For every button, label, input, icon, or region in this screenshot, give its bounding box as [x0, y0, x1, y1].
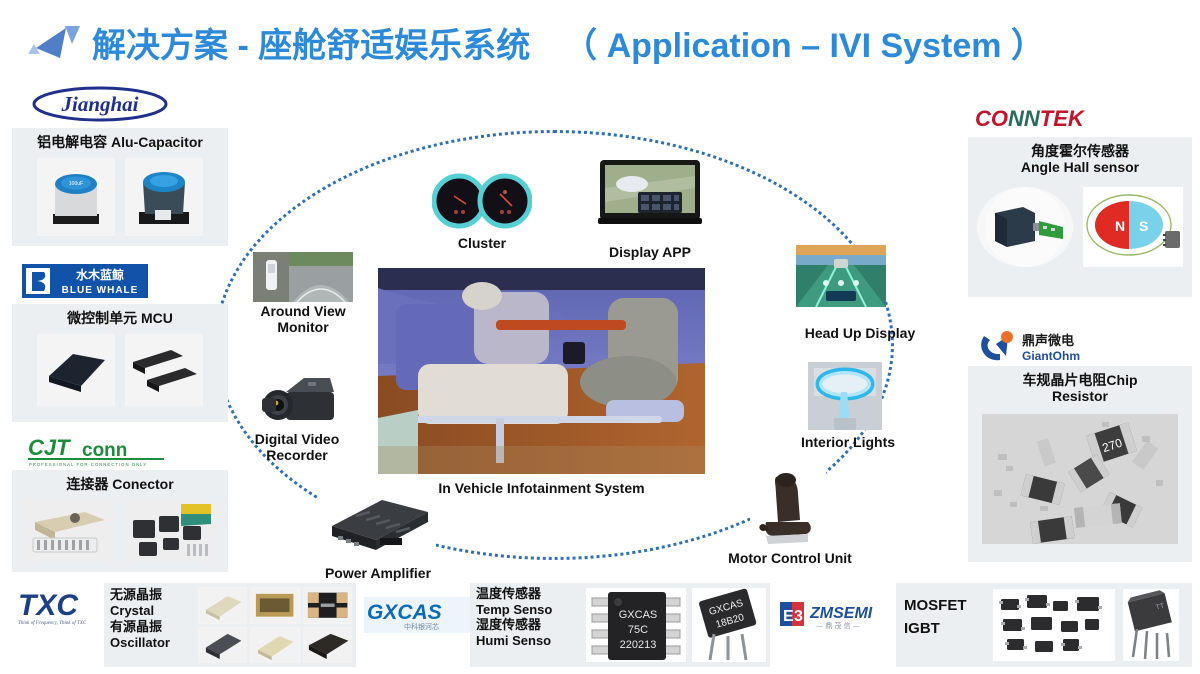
panel-connector: 连接器 Conector [12, 470, 228, 572]
head-up-display-label: Head Up Display [780, 325, 940, 341]
panel-chip-resistor-title: 车规晶片电阻Chip Resistor [968, 366, 1192, 406]
alu-capacitor-photo-1: 100uF [37, 158, 115, 236]
power-amplifier-photo [318, 490, 436, 552]
hall-motor-photo [977, 187, 1073, 267]
page-title: 解决方案 - 座舱舒适娱乐系统 （ Application – IVI Syst… [92, 18, 1045, 67]
panel-chip-resistor: 车规晶片电阻Chip Resistor 270 [968, 366, 1192, 562]
crystal-1 [198, 587, 247, 624]
interior-lights-photo [808, 362, 882, 430]
head-up-display-photo [796, 245, 886, 307]
panel-angle-hall-sensor: 角度霍尔传感器 Angle Hall sensor N [968, 137, 1192, 297]
crystal-2 [250, 587, 299, 624]
around-view-monitor-label: Around View Monitor [238, 303, 368, 335]
svg-text:E: E [783, 608, 794, 625]
svg-text:鼎声微电: 鼎声微电 [1022, 333, 1074, 349]
display-app-label: Display APP [580, 244, 720, 260]
panel-alu-capacitor-title: 铝电解电容 Alu-Capacitor [12, 128, 228, 152]
svg-text:N: N [1115, 218, 1125, 234]
cluster-label: Cluster [422, 235, 542, 251]
gxcas-to92-chip: GXCAS 18B20 [692, 588, 766, 662]
gxcas-logo-icon: GXCAS 中科银河芯 [364, 597, 482, 633]
around-view-monitor-photo [253, 252, 353, 302]
power-amplifier-label: Power Amplifier [298, 565, 458, 581]
page-title-en: （ Application – IVI System ） [563, 27, 1045, 65]
chip-resistor-photo: 270 [982, 414, 1178, 544]
slide-root: 解决方案 - 座舱舒适娱乐系统 （ Application – IVI Syst… [0, 0, 1200, 674]
svg-text:ZMSEMI: ZMSEMI [809, 605, 873, 622]
svg-text:75C: 75C [628, 624, 648, 636]
hall-magnet-photo: N S [1083, 187, 1183, 267]
svg-text:PROFESSIONAL FOR CONNECTION ON: PROFESSIONAL FOR CONNECTION ONLY [29, 462, 147, 467]
svg-text:Think of Frequency, Think of T: Think of Frequency, Think of TXC [18, 621, 87, 626]
gxcas-soic-chip: GXCAS 75C 220213 [586, 588, 686, 662]
triangles-logo-icon [26, 18, 88, 64]
panel-mosfet-igbt-lines: MOSFET IGBT [896, 583, 988, 667]
page-title-cn: 解决方案 - 座舱舒适娱乐系统 [92, 27, 530, 65]
panel-angle-hall-sensor-title: 角度霍尔传感器 Angle Hall sensor [968, 137, 1192, 177]
panel-mcu: 微控制单元 MCU [12, 304, 228, 422]
panel-crystal-oscillator-lines: 无源晶振 Crystal 有源晶振 Oscillator [104, 583, 194, 667]
svg-text:BLUE WHALE: BLUE WHALE [62, 285, 139, 296]
svg-text:水木蓝鲸: 水木蓝鲸 [76, 267, 124, 282]
svg-text:S: S [1139, 218, 1148, 234]
svg-text:— 鼎 茂 信 —: — 鼎 茂 信 — [816, 621, 860, 630]
alu-capacitor-photo-2 [125, 158, 203, 236]
panel-temp-humi-sensor-lines: 温度传感器 Temp Senso 湿度传感器 Humi Senso [470, 583, 582, 667]
panel-alu-capacitor: 铝电解电容 Alu-Capacitor 100uF [12, 128, 228, 246]
svg-text:CJT: CJT [28, 435, 71, 460]
svg-text:3: 3 [794, 608, 803, 625]
svg-text:GiantOhm: GiantOhm [1022, 349, 1080, 363]
panel-crystal-oscillator: 无源晶振 Crystal 有源晶振 Oscillator [104, 583, 356, 667]
panel-temp-humi-sensor: 温度传感器 Temp Senso 湿度传感器 Humi Senso [470, 583, 770, 667]
motor-control-unit-label: Motor Control Unit [700, 550, 880, 566]
car-seat-photo [750, 470, 826, 548]
dash-camera-photo [252, 372, 342, 430]
connector-photo-1 [23, 500, 115, 562]
conntek-logo-icon: CONNTEK [975, 104, 1105, 134]
zmsemi-logo-icon: E 3 ZMSEMI — 鼎 茂 信 — [780, 598, 898, 632]
oscillator-2 [250, 627, 299, 664]
svg-text:中科银河芯: 中科银河芯 [404, 622, 439, 631]
panel-mcu-title: 微控制单元 MCU [12, 304, 228, 328]
digital-video-recorder-label: Digital Video Recorder [232, 431, 362, 463]
svg-text:TXC: TXC [18, 589, 79, 622]
connector-photo-2 [125, 500, 217, 562]
svg-text:Jianghai: Jianghai [60, 92, 138, 116]
display-app-photo [596, 158, 706, 228]
svg-text:100uF: 100uF [69, 181, 83, 187]
slide-header: 解决方案 - 座舱舒适娱乐系统 （ Application – IVI Syst… [0, 0, 1200, 80]
jianghai-logo-icon: Jianghai [26, 86, 186, 122]
mcu-package-photo-1 [37, 334, 115, 406]
svg-text:conn: conn [82, 440, 127, 461]
txc-logo-icon: TXC Think of Frequency, Think of TXC [18, 588, 116, 628]
oscillator-1 [198, 627, 247, 664]
oscillator-3 [303, 627, 352, 664]
interior-lights-label: Interior Lights [778, 434, 918, 450]
crystal-3 [303, 587, 352, 624]
svg-text:GXCAS: GXCAS [619, 609, 658, 621]
panel-mosfet-igbt: MOSFET IGBT [896, 583, 1192, 667]
cluster-gauges-photo [432, 172, 532, 230]
svg-text:GXCAS: GXCAS [367, 601, 442, 624]
svg-text:220213: 220213 [620, 639, 657, 651]
svg-text:CONNTEK: CONNTEK [975, 106, 1086, 131]
car-interior-photo [378, 268, 705, 474]
cjtconn-logo-icon: CJT conn PROFESSIONAL FOR CONNECTION ONL… [26, 435, 172, 467]
mcu-package-photo-2 [125, 334, 203, 406]
blue-whale-logo-icon: 水木蓝鲸 BLUE WHALE [22, 264, 148, 298]
mosfet-group-photo [993, 589, 1115, 661]
panel-connector-title: 连接器 Conector [12, 470, 228, 494]
igbt-package-photo: TT [1123, 589, 1179, 661]
giantohm-logo-icon: 鼎声微电 GiantOhm [978, 330, 1108, 364]
